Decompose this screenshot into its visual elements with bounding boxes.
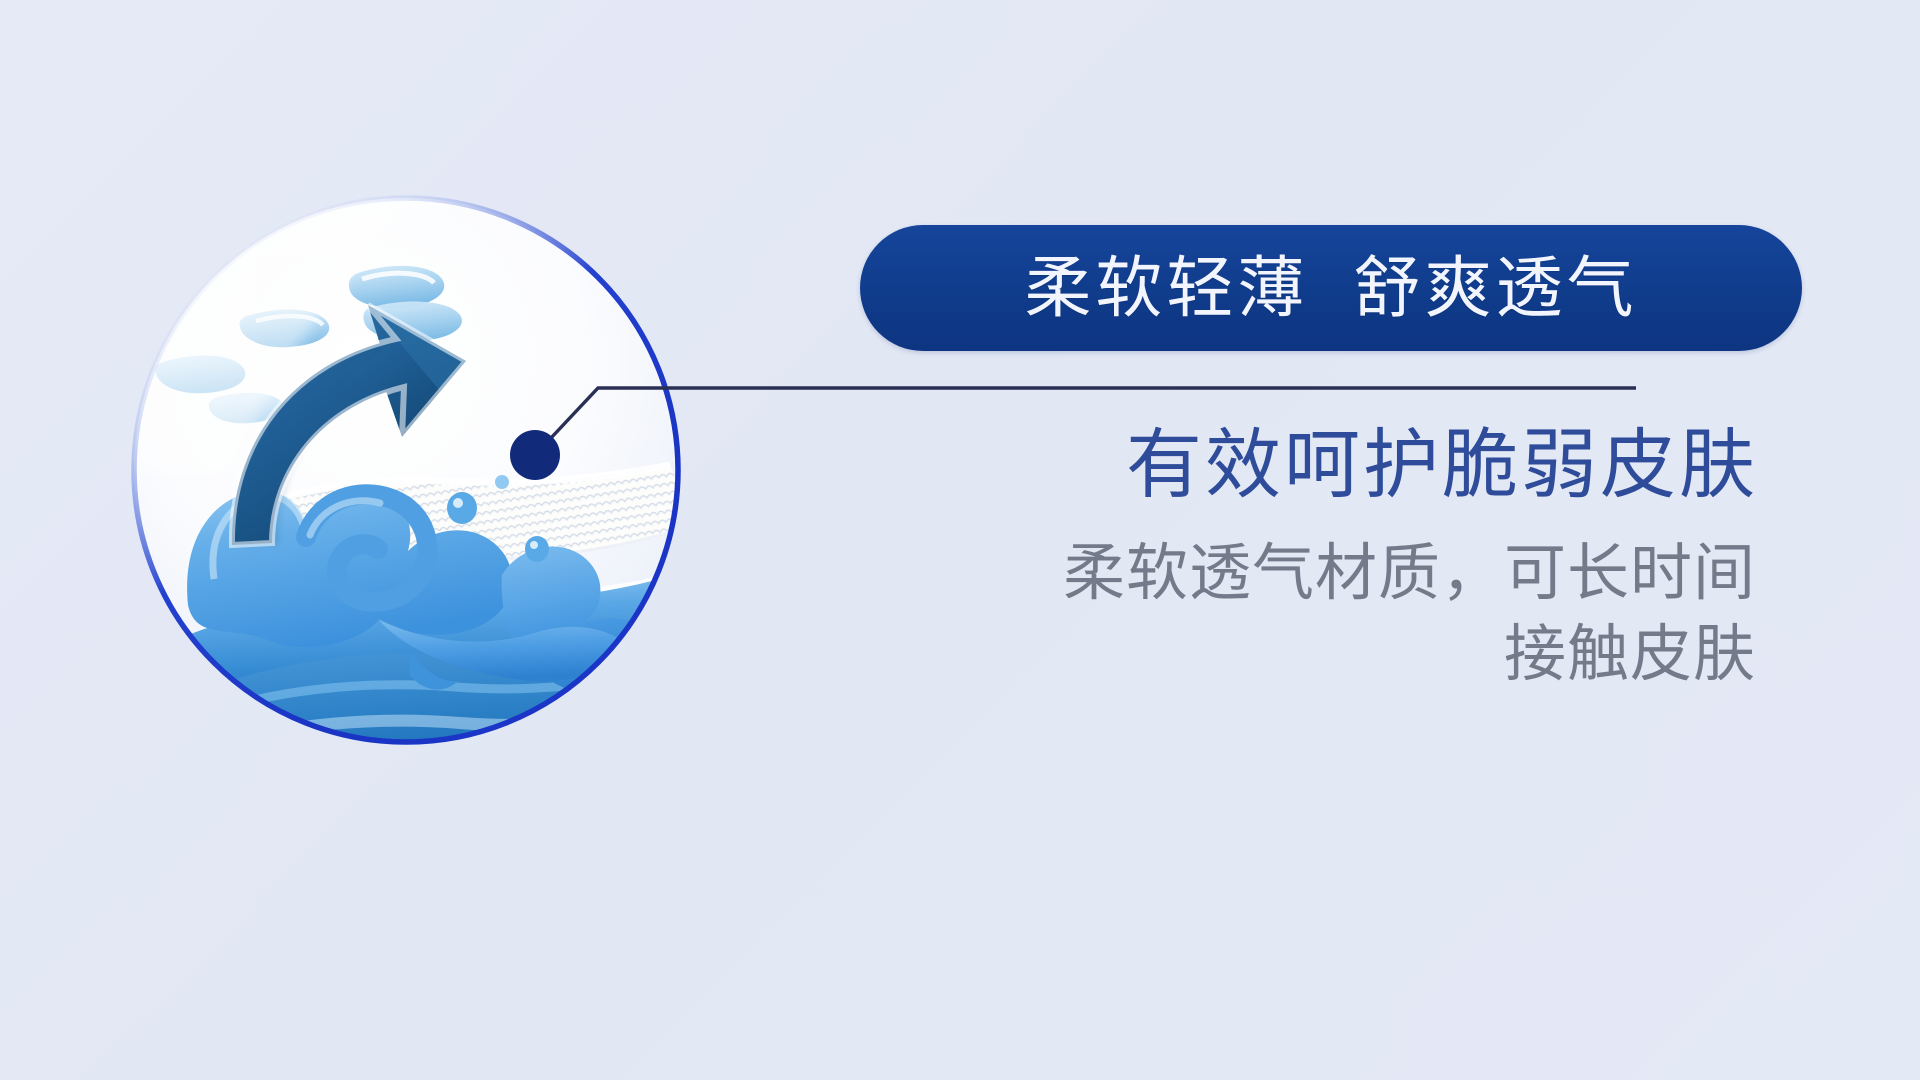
feature-badge-label: 柔软轻薄 舒爽透气 — [1024, 255, 1637, 322]
content-column: 柔软轻薄 舒爽透气 有效呵护脆弱皮肤 柔软透气材质，可长时间 接触皮肤 — [860, 225, 1820, 696]
illustration-panel — [110, 175, 735, 775]
feature-badge: 柔软轻薄 舒爽透气 — [860, 225, 1802, 351]
description-line-2: 接触皮肤 — [860, 614, 1756, 696]
description-line-1: 柔软透气材质，可长时间 — [860, 533, 1756, 615]
breathable-fabric-circle — [110, 175, 730, 765]
description-block: 柔软透气材质，可长时间 接触皮肤 — [860, 533, 1820, 697]
promo-banner: 柔软轻薄 舒爽透气 有效呵护脆弱皮肤 柔软透气材质，可长时间 接触皮肤 — [0, 0, 1920, 1080]
page-title: 有效呵护脆弱皮肤 — [860, 426, 1820, 507]
